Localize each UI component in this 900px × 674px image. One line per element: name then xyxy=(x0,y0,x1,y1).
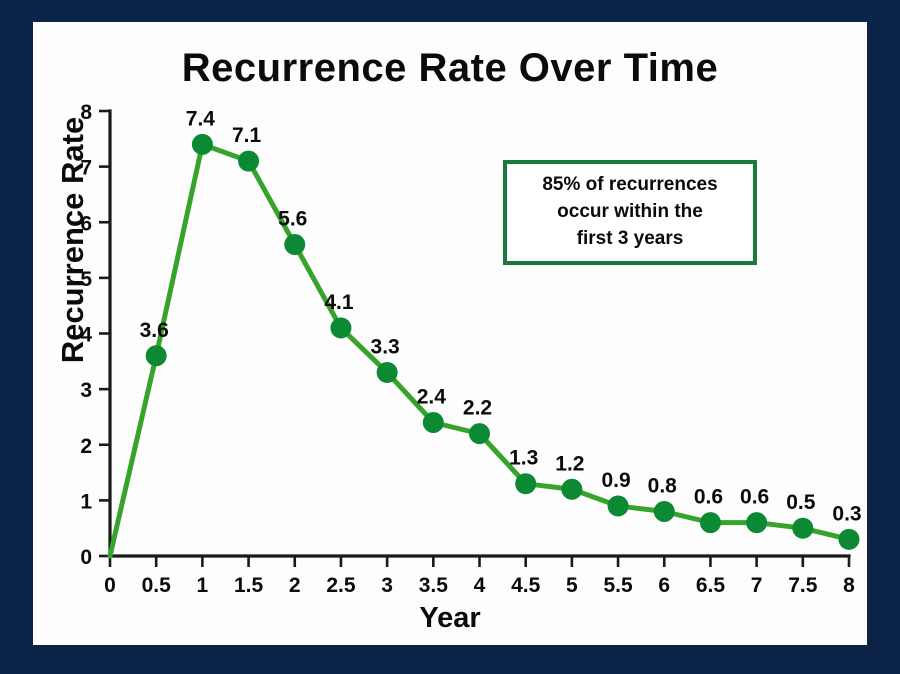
y-tick-label: 5 xyxy=(80,268,92,291)
y-tick-label: 0 xyxy=(80,546,92,569)
data-point-marker xyxy=(423,412,444,433)
y-tick-label: 4 xyxy=(80,324,92,347)
x-tick-label: 6 xyxy=(658,574,670,597)
x-tick-label: 3.5 xyxy=(419,574,449,597)
x-tick-label: 7.5 xyxy=(788,574,818,597)
y-axis-ticks: 012345678 xyxy=(80,101,110,569)
annotation-line-3: first 3 years xyxy=(577,226,684,253)
x-tick-label: 5 xyxy=(566,574,578,597)
x-tick-label: 1.5 xyxy=(234,574,264,597)
x-tick-label: 0.5 xyxy=(142,574,172,597)
y-tick-label: 3 xyxy=(80,379,92,402)
data-point-label: 0.6 xyxy=(740,486,769,509)
y-tick-label: 1 xyxy=(80,490,92,513)
x-tick-label: 4.5 xyxy=(511,574,541,597)
annotation-callout-box: 85% of recurrences occur within the firs… xyxy=(503,160,757,265)
data-point-label: 0.8 xyxy=(648,475,678,498)
data-point-marker xyxy=(515,473,536,494)
data-point-label: 4.1 xyxy=(324,291,354,314)
data-point-marker xyxy=(561,479,582,500)
data-point-label: 7.4 xyxy=(186,107,216,130)
data-point-label: 2.4 xyxy=(417,386,447,409)
x-tick-label: 2.5 xyxy=(326,574,356,597)
data-point-marker xyxy=(330,317,351,338)
data-point-label: 7.1 xyxy=(232,124,262,147)
data-point-label: 0.9 xyxy=(601,469,630,492)
x-tick-label: 8 xyxy=(843,574,855,597)
data-point-label: 0.6 xyxy=(694,486,723,509)
x-tick-label: 3 xyxy=(381,574,393,597)
data-point-marker xyxy=(377,362,398,383)
x-tick-label: 4 xyxy=(474,574,486,597)
annotation-line-1: 85% of recurrences xyxy=(542,172,717,199)
data-point-label: 1.3 xyxy=(509,447,538,470)
data-point-marker xyxy=(284,234,305,255)
slide-frame: Recurrence Rate Over Time Recurrence Rat… xyxy=(0,0,900,674)
x-tick-label: 0 xyxy=(104,574,116,597)
data-point-label: 0.5 xyxy=(786,491,816,514)
y-tick-label: 8 xyxy=(80,101,92,124)
data-point-marker xyxy=(654,501,675,522)
data-point-marker xyxy=(700,512,721,533)
data-point-label: 3.3 xyxy=(371,335,400,358)
data-point-marker xyxy=(608,495,629,516)
data-point-label: 0.3 xyxy=(832,502,861,525)
data-point-marker xyxy=(792,518,813,539)
data-point-label: 1.2 xyxy=(555,452,584,475)
data-point-label: 2.2 xyxy=(463,397,492,420)
line-chart-plot: 012345678 00.511.522.533.544.555.566.577… xyxy=(33,22,867,645)
x-tick-label: 2 xyxy=(289,574,301,597)
annotation-line-2: occur within the xyxy=(557,199,703,226)
y-tick-label: 2 xyxy=(80,435,92,458)
data-point-marker xyxy=(192,134,213,155)
data-point-marker xyxy=(839,529,860,550)
y-tick-label: 6 xyxy=(80,212,92,235)
data-point-marker xyxy=(146,345,167,366)
data-point-label: 3.6 xyxy=(140,319,169,342)
x-tick-label: 5.5 xyxy=(603,574,633,597)
x-tick-label: 6.5 xyxy=(696,574,726,597)
data-point-marker xyxy=(746,512,767,533)
data-point-marker xyxy=(238,151,259,172)
x-axis-ticks: 00.511.522.533.544.555.566.577.58 xyxy=(104,556,855,597)
x-tick-label: 7 xyxy=(751,574,763,597)
data-point-label: 5.6 xyxy=(278,208,307,231)
data-point-marker xyxy=(469,423,490,444)
chart-panel: Recurrence Rate Over Time Recurrence Rat… xyxy=(33,22,867,645)
x-tick-label: 1 xyxy=(197,574,209,597)
y-tick-label: 7 xyxy=(80,157,92,180)
